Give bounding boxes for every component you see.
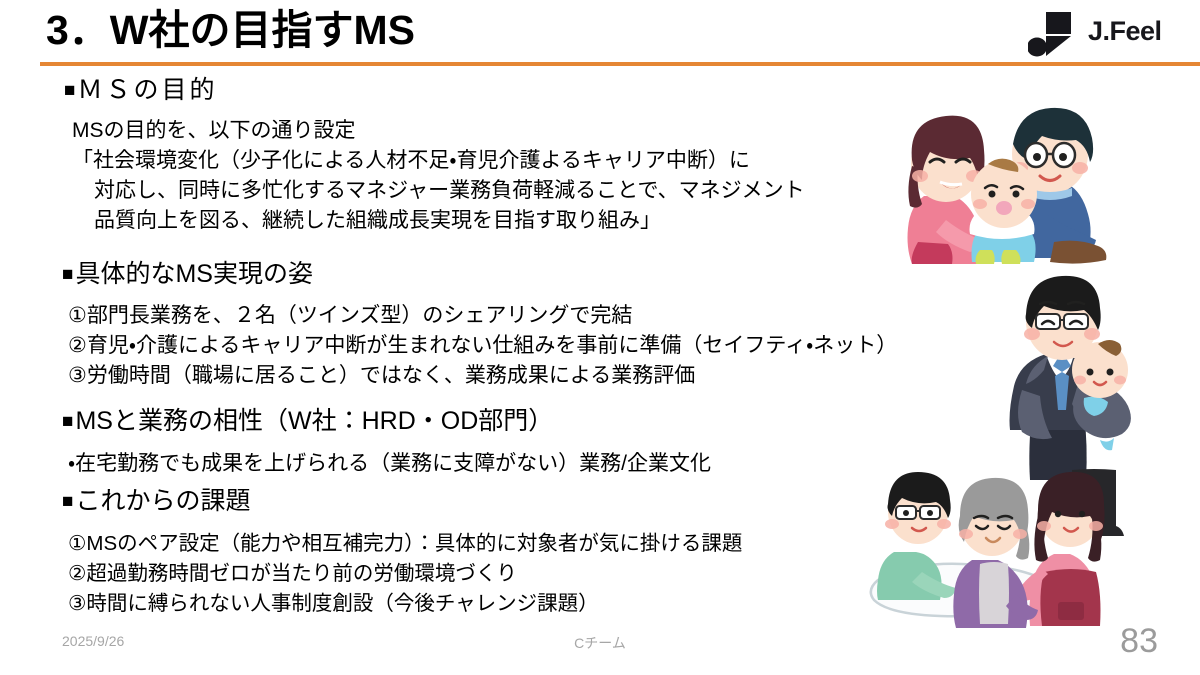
body-line: ③時間に縛られない人事制度創設（今後チャレンジ課題） (68, 589, 880, 619)
body-line: 「社会環境変化（少子化による人材不足・育児介護よるキャリア中断）に (72, 146, 880, 176)
section-heading-label: ＭＳの目的 (77, 76, 217, 104)
businessman-holding-baby-illustration (950, 272, 1200, 482)
section-heading: ■これからの課題 (0, 485, 880, 518)
section-ms-purpose: ■ＭＳの目的 MSの目的を、以下の通り設定 「社会環境変化（少子化による人材不足… (0, 74, 880, 236)
section-heading: ■具体的なMS実現の姿 (0, 258, 880, 291)
body-line: ③労働時間（職場に居ること）ではなく、業務成果による業務評価 (68, 361, 880, 391)
section-body: ・在宅勤務でも成果を上げられる（業務に支障がない）業務/企業文化 (0, 438, 880, 479)
page-title: 3．W社の目指すMS (46, 5, 415, 55)
section-body: ①部門長業務を、２名（ツインズ型）のシェアリングで完結 ②育児・介護によるキャリ… (0, 291, 880, 391)
body-line: MSの目的を、以下の通り設定 (72, 116, 880, 146)
family-with-baby-illustration (868, 92, 1198, 264)
section-heading: ■MSと業務の相性（W社：HRD・OD部門） (0, 405, 880, 438)
body-line: ①MSのペア設定（能力や相互補完力）：具体的に対象者が気に掛ける課題 (68, 529, 880, 559)
section-heading-label: 具体的なMS実現の姿 (75, 260, 313, 288)
section-ms-job-fit: ■MSと業務の相性（W社：HRD・OD部門） ・在宅勤務でも成果を上げられる（業… (0, 405, 880, 479)
body-line: ②超過勤務時間ゼロが当たり前の労働環境づくり (68, 559, 880, 589)
title-bar: 3．W社の目指すMS (0, 0, 1200, 68)
section-body: ①MSのペア設定（能力や相互補完力）：具体的に対象者が気に掛ける課題 ②超過勤務… (0, 518, 880, 619)
square-bullet-icon: ■ (62, 264, 73, 285)
jfeel-logo-icon (1028, 11, 1086, 57)
slide-body: ■ＭＳの目的 MSの目的を、以下の通り設定 「社会環境変化（少子化による人材不足… (0, 68, 880, 613)
body-line: 品質向上を図る、継続した組織成長実現を目指す取り組み」 (72, 206, 880, 236)
section-ms-realization: ■具体的なMS実現の姿 ①部門長業務を、２名（ツインズ型）のシェアリングで完結 … (0, 258, 880, 391)
section-heading: ■ＭＳの目的 (0, 74, 880, 107)
section-heading-label: MSと業務の相性（W社：HRD・OD部門） (75, 407, 553, 435)
title-divider (40, 62, 1200, 66)
square-bullet-icon: ■ (64, 80, 75, 101)
body-line: ②育児・介護によるキャリア中断が生まれない仕組みを事前に準備（セイフティ・ネット… (68, 331, 880, 361)
section-heading-label: これからの課題 (75, 487, 250, 515)
square-bullet-icon: ■ (62, 411, 73, 432)
square-bullet-icon: ■ (62, 491, 73, 512)
section-future-issues: ■これからの課題 ①MSのペア設定（能力や相互補完力）：具体的に対象者が気に掛け… (0, 485, 880, 619)
slide-canvas: 3．W社の目指すMS J.Feel ■ＭＳの目的 MSの目的を、以下の通り設定 … (0, 0, 1200, 675)
elderly-care-illustration (868, 468, 1198, 643)
footer-team-label: Cチーム (0, 633, 1200, 653)
brand-logo-text: J.Feel (1088, 16, 1162, 47)
section-body: MSの目的を、以下の通り設定 「社会環境変化（少子化による人材不足・育児介護よる… (0, 107, 880, 236)
body-line: ・在宅勤務でも成果を上げられる（業務に支障がない）業務/企業文化 (68, 449, 880, 479)
brand-logo: J.Feel (1028, 11, 1188, 59)
page-number: 83 (1120, 622, 1158, 661)
body-line: 対応し、同時に多忙化するマネジャー業務負荷軽減ることで、マネジメント (72, 176, 880, 206)
body-line: ①部門長業務を、２名（ツインズ型）のシェアリングで完結 (68, 301, 880, 331)
